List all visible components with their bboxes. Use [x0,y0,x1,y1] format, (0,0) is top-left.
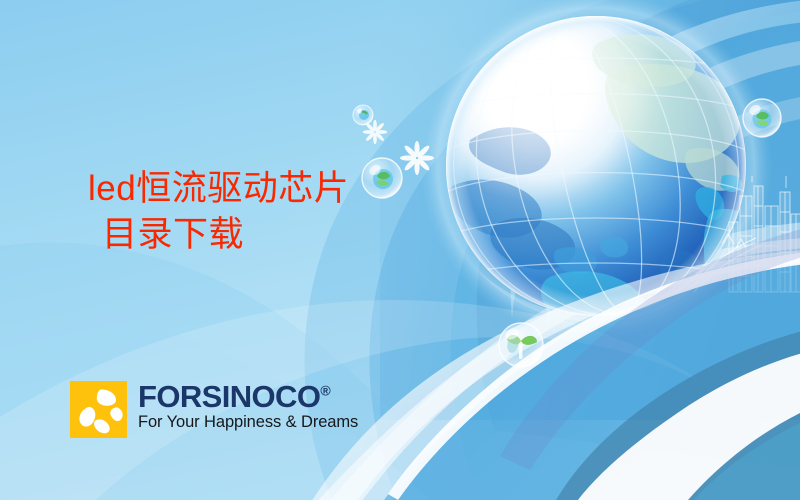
brand-logo: FORSINOCO® For Your Happiness & Dreams [70,381,358,438]
bubble-globe-icon [362,158,402,198]
brand-tagline: For Your Happiness & Dreams [138,414,358,431]
brand-wordmark-text: FORSINOCO [138,379,320,414]
registered-mark: ® [320,383,330,399]
poster-canvas: led恒流驱动芯片 目录下载 FORSINOCO® For Your Happi… [0,0,800,500]
bubble-leaf-icon [499,323,543,367]
bubble-globe-icon [743,99,781,137]
bubble-globe-icon [353,105,373,125]
brand-wordmark: FORSINOCO® [138,382,358,412]
brand-text: FORSINOCO® For Your Happiness & Dreams [138,381,358,430]
four-petal-pinwheel-icon [70,381,127,438]
